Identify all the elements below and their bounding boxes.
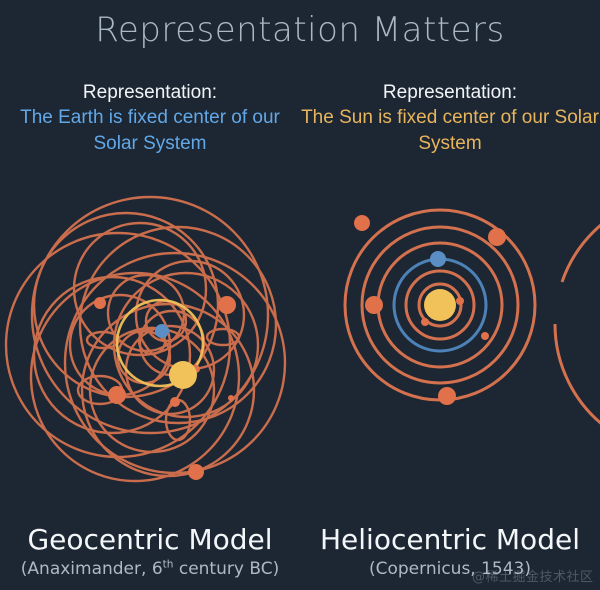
geocentric-representation-detail: The Earth is fixed center of our Solar S… bbox=[0, 105, 300, 156]
heliocentric-earth bbox=[430, 251, 446, 267]
geocentric-attribution-suffix: century BC) bbox=[173, 559, 279, 579]
watermark: @稀土掘金技术社区 bbox=[472, 566, 594, 585]
heliocentric-mercury bbox=[456, 297, 464, 305]
heliocentric-model-name: Heliocentric Model bbox=[300, 523, 600, 556]
slide-root: Representation Matters Representation: T… bbox=[0, 0, 600, 590]
heliocentric-representation-detail: The Sun is fixed center of our Solar Sys… bbox=[300, 105, 600, 156]
geocentric-planet bbox=[170, 397, 180, 407]
heliocentric-planet bbox=[481, 332, 489, 340]
geocentric-earth bbox=[155, 324, 169, 338]
geocentric-representation-caption: Representation: The Earth is fixed cente… bbox=[0, 80, 300, 156]
geocentric-attribution-superscript: th bbox=[163, 558, 174, 570]
heliocentric-planet bbox=[365, 296, 383, 314]
geocentric-diagram bbox=[0, 185, 300, 505]
heliocentric-planet bbox=[438, 387, 456, 405]
geocentric-planet bbox=[228, 395, 234, 401]
page-title: Representation Matters bbox=[0, 10, 600, 50]
geocentric-planet bbox=[108, 386, 126, 404]
geocentric-representation-lead: Representation: bbox=[0, 80, 300, 105]
geocentric-planet bbox=[188, 464, 204, 480]
panel-heliocentric: Representation: The Sun is fixed center … bbox=[300, 80, 600, 590]
geocentric-planet bbox=[218, 296, 236, 314]
geocentric-bottom-caption: Geocentric Model (Anaximander, 6th centu… bbox=[0, 523, 300, 582]
geocentric-attribution-prefix: (Anaximander, 6 bbox=[21, 559, 163, 579]
geocentric-attribution: (Anaximander, 6th century BC) bbox=[0, 557, 300, 583]
heliocentric-planet bbox=[421, 318, 429, 326]
heliocentric-representation-lead: Representation: bbox=[300, 80, 600, 105]
heliocentric-diagram bbox=[300, 185, 600, 505]
heliocentric-planet bbox=[488, 228, 506, 246]
geocentric-planet bbox=[94, 297, 106, 309]
heliocentric-sun bbox=[424, 289, 456, 321]
geocentric-sun bbox=[169, 361, 197, 389]
heliocentric-representation-caption: Representation: The Sun is fixed center … bbox=[300, 80, 600, 156]
panel-geocentric: Representation: The Earth is fixed cente… bbox=[0, 80, 300, 590]
geocentric-model-name: Geocentric Model bbox=[0, 523, 300, 556]
heliocentric-planet bbox=[354, 215, 370, 231]
